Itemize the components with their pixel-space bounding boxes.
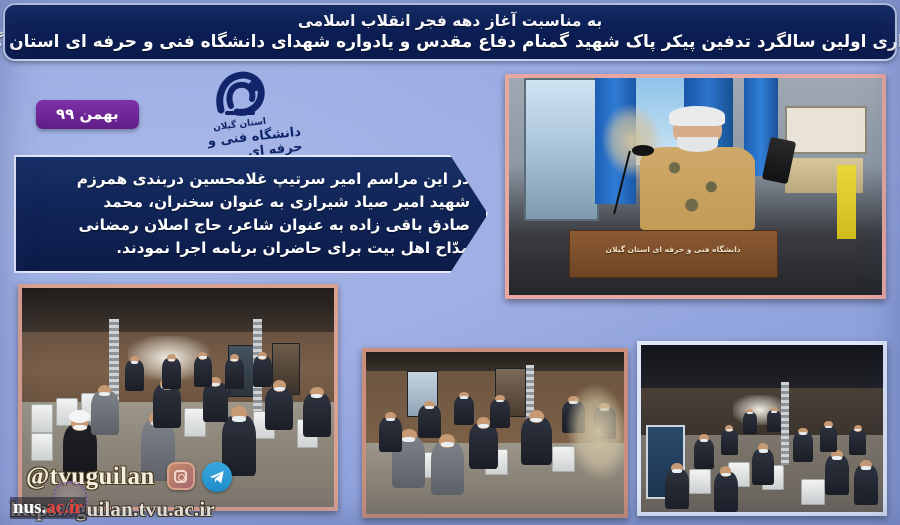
caption-arrow-box: در این مراسم امیر سرتیپ غلامحسین دربندی … [14,155,488,273]
telegram-icon[interactable] [202,462,232,492]
podium-label: دانشگاه فنی و حرفه ای استان گیلان [576,245,770,254]
instagram-icon[interactable] [165,462,195,492]
photo-audience-center [362,348,628,518]
watermark-domain-prefix: nus. [13,497,46,518]
watermark-badge: nus.ac.ir [10,497,86,519]
header-title-line-2: برگزاری اولین سالگرد تدفین پیکر پاک شهید… [0,32,900,52]
date-badge: بهمن ۹۹ [36,100,139,129]
tvu-logo-icon [207,66,273,122]
photo-audience-right [637,341,887,516]
photo-speaker: دانشگاه فنی و حرفه ای استان گیلان [505,74,886,299]
header-title-line-1: به مناسبت آغاز دهه فجر انقلاب اسلامی [298,12,602,30]
poster-canvas: به مناسبت آغاز دهه فجر انقلاب اسلامی برگ… [0,0,900,525]
footer-url-row: https://guilan.tvu.ac.ir nus.ac.ir [10,497,215,522]
university-logo: استان گیلان دانشگاه فنی و حرفه ای [178,66,302,164]
caption-body-text: در این مراسم امیر سرتیپ غلامحسین دربندی … [62,168,470,260]
watermark-domain: nus.ac.ir [10,497,86,519]
social-handle-text: @tvuguilan [26,463,155,491]
watermark-domain-suffix: ac.ir [46,497,82,518]
header-banner: به مناسبت آغاز دهه فجر انقلاب اسلامی برگ… [3,3,897,61]
